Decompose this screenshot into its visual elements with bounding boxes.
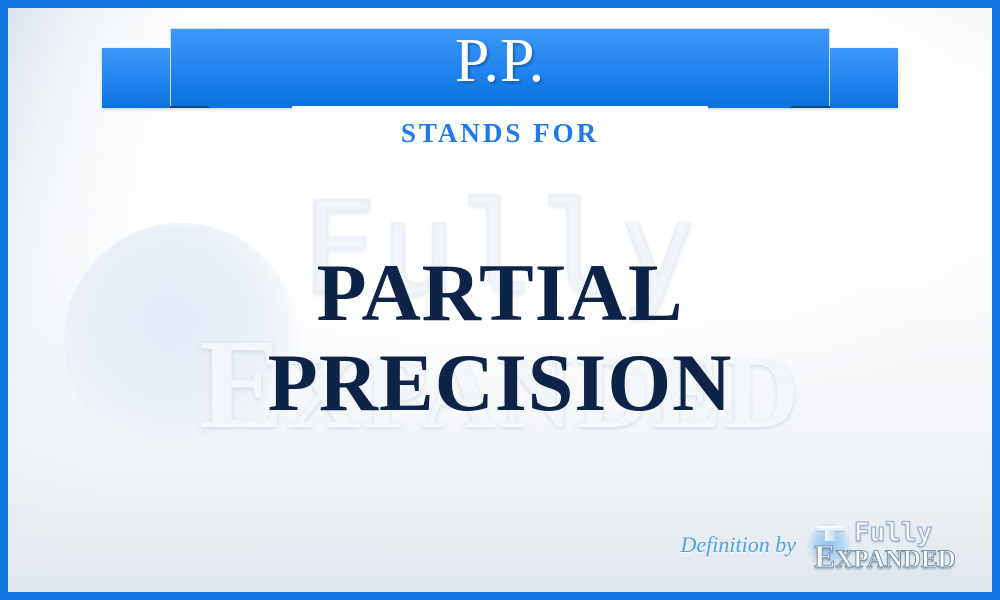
column-pillar-icon bbox=[816, 526, 844, 540]
card-canvas: Fully EXPANDED P.P. STANDS FOR PARTIAL P… bbox=[8, 8, 992, 592]
logo-expanded-rest: XPANDED bbox=[835, 546, 955, 573]
abbreviation-title: P.P. bbox=[8, 30, 992, 92]
logo-expanded-capital: E bbox=[814, 538, 835, 574]
footer-credit: Definition by Fully EXPANDED bbox=[681, 520, 970, 570]
definition-card: Fully EXPANDED P.P. STANDS FOR PARTIAL P… bbox=[0, 0, 1000, 600]
definition-line-1: PARTIAL bbox=[8, 248, 992, 338]
definition-by-label: Definition by bbox=[681, 532, 796, 558]
logo-word-expanded: EXPANDED bbox=[814, 538, 956, 575]
definition-line-2: PRECISION bbox=[8, 338, 992, 428]
pillar-shaft bbox=[825, 530, 835, 541]
stands-for-label: STANDS FOR bbox=[8, 118, 992, 149]
fully-expanded-logo[interactable]: Fully EXPANDED bbox=[810, 520, 970, 570]
definition-phrase: PARTIAL PRECISION bbox=[8, 248, 992, 428]
